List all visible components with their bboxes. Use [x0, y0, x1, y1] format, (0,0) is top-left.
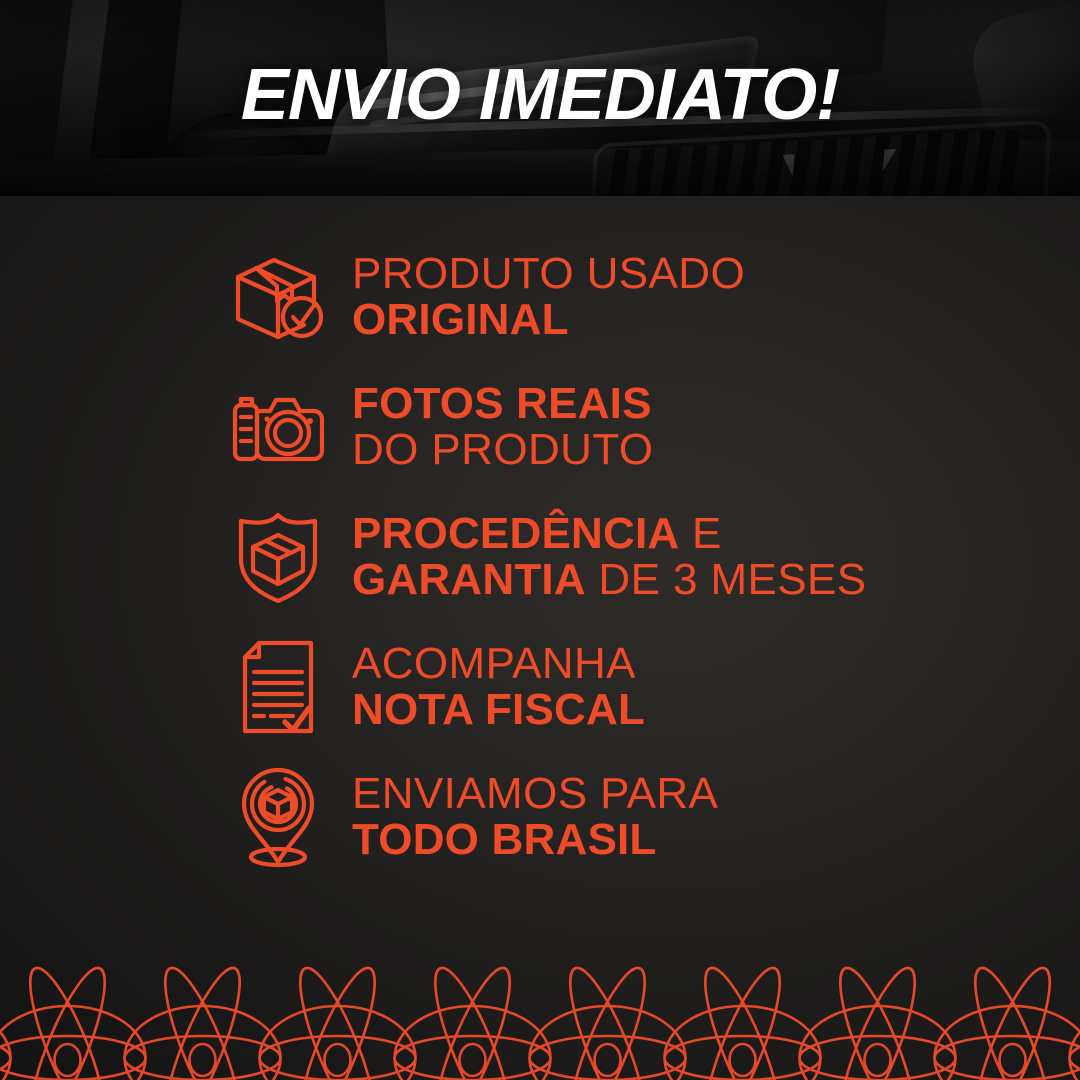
- feature-line-2: DO PRODUTO: [352, 427, 653, 473]
- feature-line-1: FOTOS REAIS: [352, 381, 653, 427]
- feature-text: FOTOS REAIS DO PRODUTO: [352, 381, 653, 473]
- feature-line-1: PROCEDÊNCIA E: [352, 511, 867, 557]
- feature-line-1-light: E: [679, 509, 721, 558]
- feature-line-2-bold: GARANTIA: [352, 555, 586, 604]
- feature-item-procedencia-garantia: PROCEDÊNCIA E GARANTIA DE 3 MESES: [0, 492, 1080, 622]
- feature-line-2: ORIGINAL: [352, 297, 745, 343]
- promo-banner: ENVIO IMEDIATO! PRODUTO USADO ORIGINAL: [0, 0, 1080, 1080]
- shield-box-icon: [222, 509, 334, 605]
- feature-list: PRODUTO USADO ORIGINAL FOTOS REAIS: [0, 232, 1080, 882]
- camera-icon: [222, 387, 334, 467]
- feature-line-2: GARANTIA DE 3 MESES: [352, 557, 867, 603]
- feature-text: ACOMPANHA NOTA FISCAL: [352, 641, 645, 733]
- feature-line-1: ENVIAMOS PARA: [352, 771, 718, 817]
- feature-line-1: PRODUTO USADO: [352, 251, 745, 297]
- feature-text: PROCEDÊNCIA E GARANTIA DE 3 MESES: [352, 511, 867, 603]
- feature-line-1-bold: PROCEDÊNCIA: [352, 509, 679, 558]
- feature-line-2: NOTA FISCAL: [352, 687, 645, 733]
- invoice-document-check-icon: [222, 638, 334, 736]
- feature-item-nota-fiscal: ACOMPANHA NOTA FISCAL: [0, 622, 1080, 752]
- header-title: ENVIO IMEDIATO!: [0, 0, 1080, 196]
- feature-text: PRODUTO USADO ORIGINAL: [352, 251, 745, 343]
- feature-text: ENVIAMOS PARA TODO BRASIL: [352, 771, 718, 863]
- geometric-floral-border: [0, 940, 1080, 1080]
- feature-item-fotos-reais: FOTOS REAIS DO PRODUTO: [0, 362, 1080, 492]
- feature-item-produto-usado-original: PRODUTO USADO ORIGINAL: [0, 232, 1080, 362]
- feature-line-2: TODO BRASIL: [352, 817, 718, 863]
- package-box-check-icon: [222, 251, 334, 343]
- map-pin-box-icon: [222, 766, 334, 868]
- header-band: ENVIO IMEDIATO!: [0, 0, 1080, 196]
- feature-item-todo-brasil: ENVIAMOS PARA TODO BRASIL: [0, 752, 1080, 882]
- feature-line-1: ACOMPANHA: [352, 641, 645, 687]
- feature-line-2-light: DE 3 MESES: [586, 555, 867, 604]
